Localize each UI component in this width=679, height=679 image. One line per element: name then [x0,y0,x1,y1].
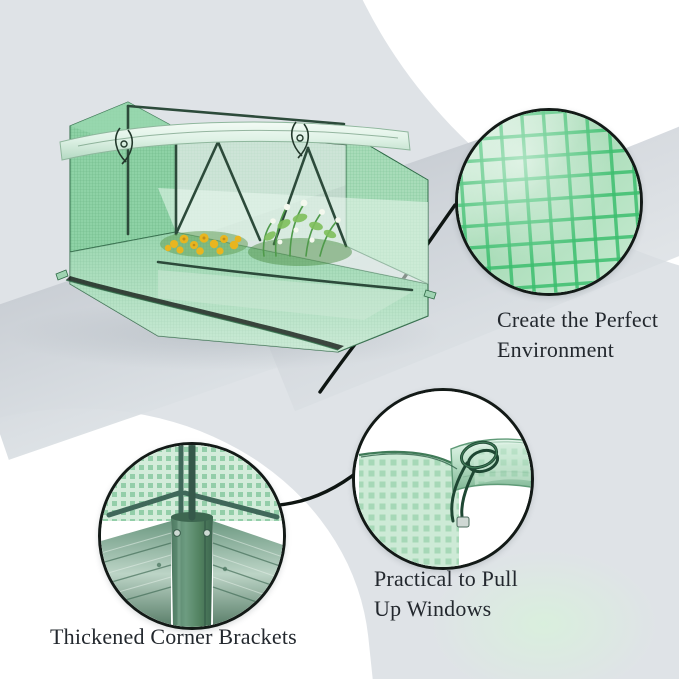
product-illustration [8,84,448,354]
callout-circle-mesh[interactable] [455,108,643,296]
callout-circle-bracket[interactable] [98,442,286,630]
callout-caption-window: Practical to Pull Up Windows [374,564,584,624]
callout-caption-bracket: Thickened Corner Brackets [50,622,350,652]
mesh-fabric-closeup-icon [458,111,640,293]
callout-caption-mesh: Create the Perfect Environment [497,305,677,365]
rolled-window-closeup-icon [355,391,531,567]
callout-circle-window[interactable] [352,388,534,570]
infographic-canvas: Create the Perfect Environment [0,0,679,679]
corner-bracket-closeup-icon [101,445,283,627]
